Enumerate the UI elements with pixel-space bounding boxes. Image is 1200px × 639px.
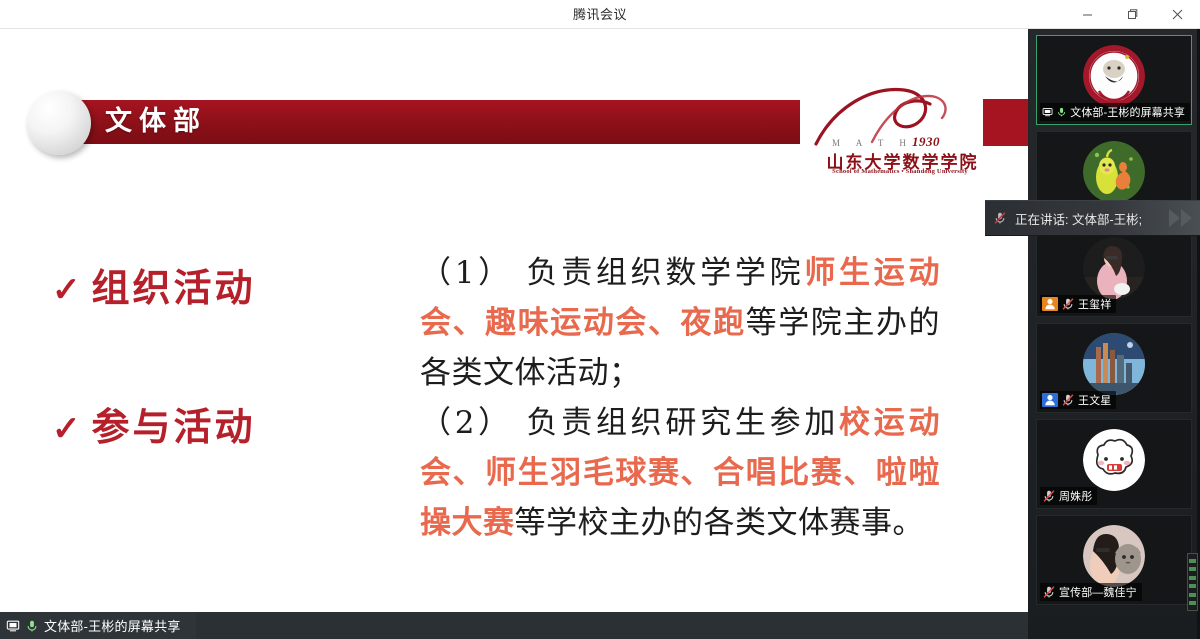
participant-tile[interactable]: 宣传部—魏佳宁 <box>1036 515 1192 605</box>
paragraph-segment: 等学校主办的各类文体赛事。 <box>515 505 925 541</box>
host-badge <box>1042 297 1058 311</box>
window-controls <box>1065 0 1200 29</box>
window-title: 腾讯会议 <box>0 0 1200 29</box>
logo-school-en: School of Mathematics • Shandong Univers… <box>820 168 980 175</box>
screen-share-label: 文体部-王彬的屏幕共享 <box>44 616 181 635</box>
participant-tile[interactable]: 周姝彤 <box>1036 419 1192 509</box>
shared-screen-area[interactable]: 文体部 M A T H 1930 山东大学数学学院 School of Math… <box>0 29 1028 612</box>
close-button[interactable] <box>1155 0 1200 29</box>
tencent-meeting-window: 腾讯会议 文体部 <box>0 0 1200 639</box>
check-icon: ✓ <box>52 409 84 449</box>
minimize-button[interactable] <box>1065 0 1110 29</box>
avatar <box>1083 45 1145 107</box>
paragraph-segment: （2） 负责组织研究生参加 <box>420 405 839 441</box>
participant-name: 宣传部—魏佳宁 <box>1059 584 1137 600</box>
participant-name-bar: 文体部-王彬的屏幕共享 <box>1040 103 1190 121</box>
slide-paragraph-1: （1） 负责组织数学学院师生运动会、趣味运动会、夜跑等学院主办的各类文体活动； <box>420 248 940 398</box>
avatar <box>1083 333 1145 395</box>
person-icon <box>1043 393 1057 407</box>
screen-share-icon <box>1042 105 1053 119</box>
active-speaker-text: 正在讲话: 文体部-王彬; <box>1015 209 1142 228</box>
participant-name-bar: 王玺祥 <box>1040 295 1116 313</box>
slide-bullet-list: ✓组织活动 ✓参与活动 <box>52 257 382 451</box>
bullet-item: ✓组织活动 <box>52 257 382 312</box>
slide-body-text: （1） 负责组织数学学院师生运动会、趣味运动会、夜跑等学院主办的各类文体活动； … <box>420 248 940 548</box>
girl-with-cat-avatar-icon <box>1083 525 1145 587</box>
microphone-icon <box>1056 105 1067 119</box>
powerpoint-slide: 文体部 M A T H 1930 山东大学数学学院 School of Math… <box>0 29 1028 612</box>
participant-name: 文体部-王彬的屏幕共享 <box>1070 104 1185 120</box>
bullet-label: 组织活动 <box>92 265 256 310</box>
window-title-bar: 腾讯会议 <box>0 0 1200 29</box>
microphone-muted-icon <box>1061 297 1075 311</box>
participant-name-bar: 周姝彤 <box>1040 487 1097 505</box>
screen-share-status-bar[interactable]: 文体部-王彬的屏幕共享 <box>0 612 196 639</box>
participant-name-bar: 宣传部—魏佳宁 <box>1040 583 1142 601</box>
microphone-muted-icon <box>1042 489 1056 503</box>
cohost-badge <box>1042 393 1058 407</box>
sheep-cartoon-avatar-icon <box>1083 429 1145 491</box>
teletubby-avatar-icon <box>1083 141 1145 203</box>
participant-name: 王玺祥 <box>1078 296 1111 312</box>
avatar <box>1083 429 1145 491</box>
active-speaker-toast: 正在讲话: 文体部-王彬; <box>985 200 1200 236</box>
microphone-muted-icon <box>1061 393 1075 407</box>
participant-tile[interactable]: 文体部-王彬的屏幕共享 <box>1036 35 1192 125</box>
school-logo: M A T H 1930 山东大学数学学院 School of Mathemat… <box>812 84 980 179</box>
microphone-icon <box>25 619 39 633</box>
check-icon: ✓ <box>52 270 84 310</box>
microphone-muted-icon <box>993 211 1007 225</box>
avatar <box>1083 141 1145 203</box>
bottom-strip <box>196 612 1028 639</box>
decorative-red-block <box>983 99 1028 146</box>
avatar <box>1083 525 1145 587</box>
collapse-chevrons-icon[interactable] <box>1169 209 1192 227</box>
slide-title: 文体部 <box>105 100 207 144</box>
participant-name: 王文星 <box>1078 392 1111 408</box>
maximize-button[interactable] <box>1110 0 1155 29</box>
microphone-muted-icon <box>1042 585 1056 599</box>
bullet-item: ✓参与活动 <box>52 396 382 451</box>
participant-tile[interactable]: 王文星 <box>1036 323 1192 413</box>
paragraph-segment: （1） 负责组织数学学院 <box>420 255 804 291</box>
screen-share-icon <box>6 619 20 633</box>
participant-sidebar[interactable]: 文体部-王彬的屏幕共享 <box>1028 29 1200 639</box>
city-skyline-avatar-icon <box>1083 333 1145 395</box>
avatar <box>1083 237 1145 299</box>
decorative-circle <box>27 91 91 155</box>
logo-math-text: M A T H <box>832 138 913 148</box>
bullet-label: 参与活动 <box>92 404 256 449</box>
sidebar-resize-grip[interactable] <box>1187 553 1198 611</box>
participant-name-bar: 王文星 <box>1040 391 1116 409</box>
person-photo-avatar-icon <box>1083 237 1145 299</box>
math-swoosh-icon <box>812 84 980 146</box>
slide-paragraph-2: （2） 负责组织研究生参加校运动会、师生羽毛球赛、合唱比赛、啦啦操大赛等学校主办… <box>420 398 940 548</box>
sdu-seal-avatar-icon <box>1083 45 1145 107</box>
participant-tile[interactable]: 王玺祥 <box>1036 227 1192 317</box>
person-icon <box>1043 297 1057 311</box>
participant-name: 周姝彤 <box>1059 488 1092 504</box>
